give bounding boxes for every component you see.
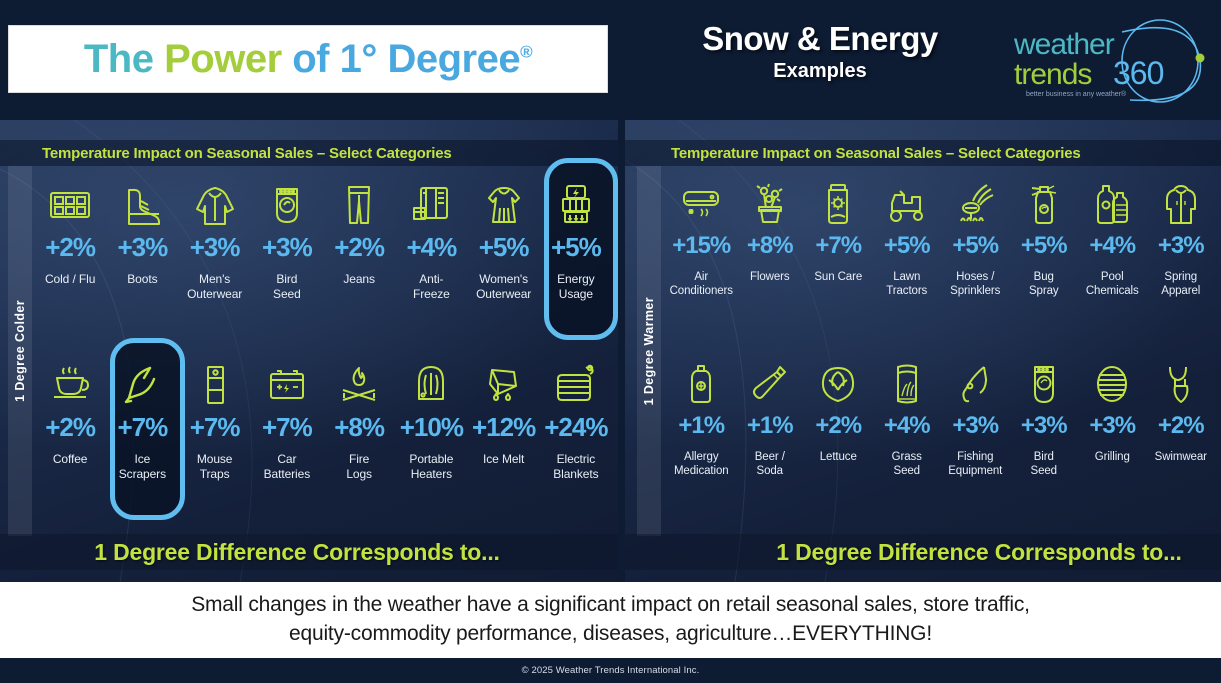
panel-warmer-row-2: +1% AllergyMedication +1% Beer /So bbox=[667, 348, 1215, 528]
pct-value: +2% bbox=[1158, 414, 1204, 438]
sunscreen-tube-icon bbox=[822, 178, 854, 232]
coffee-cup-icon bbox=[48, 358, 92, 412]
cell-energy-usage[interactable]: +5% EnergyUsage bbox=[540, 168, 612, 348]
cell-cold-flu[interactable]: +2% Cold / Flu bbox=[34, 168, 106, 348]
seed-tray-icon bbox=[47, 178, 93, 232]
header-titles: Snow & Energy Examples bbox=[660, 20, 980, 83]
pct-value: +12% bbox=[472, 414, 535, 440]
page-title: The Power of 1° Degree® bbox=[84, 37, 532, 82]
cell-bird-seed-warm[interactable]: +3% BirdSeed bbox=[1010, 348, 1079, 528]
raincoat-icon bbox=[1162, 178, 1200, 232]
cell-ice-scrapers[interactable]: +7% IceScrapers bbox=[106, 348, 178, 528]
panel-colder: Temperature Impact on Seasonal Sales – S… bbox=[0, 120, 618, 582]
cell-label: FishingEquipment bbox=[948, 450, 1002, 479]
pct-value: +3% bbox=[190, 234, 240, 260]
pct-value: +2% bbox=[45, 234, 95, 260]
portable-heater-icon bbox=[412, 358, 450, 412]
cell-anti-freeze[interactable]: +4% Anti-Freeze bbox=[395, 168, 467, 348]
fishing-rod-icon bbox=[954, 358, 996, 412]
copyright-text: © 2025 Weather Trends International Inc. bbox=[522, 665, 700, 676]
corr-banner-warmer-text: 1 Degree Difference Corresponds to... bbox=[776, 539, 1181, 566]
panel-colder-grid: +2% Cold / Flu +3% Boots bbox=[34, 168, 612, 528]
pct-value: +15% bbox=[672, 234, 730, 258]
pct-value: +4% bbox=[884, 414, 930, 438]
cell-label: GrassSeed bbox=[892, 450, 922, 479]
cell-bug-spray[interactable]: +5% BugSpray bbox=[1010, 168, 1079, 348]
svg-text:weather: weather bbox=[1013, 28, 1115, 61]
cell-label: Ice Melt bbox=[483, 452, 524, 467]
pct-value: +3% bbox=[1021, 414, 1067, 438]
cell-flowers[interactable]: +8% Flowers bbox=[736, 168, 805, 348]
corr-banner-colder-text: 1 Degree Difference Corresponds to... bbox=[94, 539, 499, 566]
title-part-power: Power bbox=[164, 37, 292, 81]
fire-logs-icon bbox=[337, 358, 381, 412]
pool-chemicals-icon bbox=[1091, 178, 1133, 232]
cell-label: Flowers bbox=[750, 270, 790, 284]
cell-jeans[interactable]: +2% Jeans bbox=[323, 168, 395, 348]
side-label-warmer: 1 Degree Warmer bbox=[637, 166, 661, 536]
cell-bird-seed[interactable]: +3% BirdSeed bbox=[251, 168, 323, 348]
panel-colder-title-text: Temperature Impact on Seasonal Sales – S… bbox=[0, 145, 452, 162]
cell-label: EnergyUsage bbox=[557, 272, 594, 302]
cell-sun-care[interactable]: +7% Sun Care bbox=[804, 168, 873, 348]
cell-label: Men'sOuterwear bbox=[187, 272, 242, 302]
cell-electric-blankets[interactable]: +24% ElectricBlankets bbox=[540, 348, 612, 528]
corr-banner-warmer: 1 Degree Difference Corresponds to... bbox=[625, 534, 1221, 570]
svg-text:better business in any weather: better business in any weather® bbox=[1026, 90, 1127, 98]
pct-value: +8% bbox=[334, 414, 384, 440]
corr-banner-colder: 1 Degree Difference Corresponds to... bbox=[0, 534, 618, 570]
pct-value: +5% bbox=[952, 234, 998, 258]
weather-trends-360-logo: weather trends 360 better business in an… bbox=[1010, 14, 1210, 108]
panels-container: Temperature Impact on Seasonal Sales – S… bbox=[0, 120, 1221, 582]
panel-colder-title: Temperature Impact on Seasonal Sales – S… bbox=[0, 140, 618, 166]
pct-value: +7% bbox=[190, 414, 240, 440]
svg-text:360: 360 bbox=[1113, 55, 1164, 91]
cell-label: Sun Care bbox=[814, 270, 862, 284]
cell-label: BirdSeed bbox=[1031, 450, 1057, 479]
cell-label: Anti-Freeze bbox=[413, 272, 450, 302]
panel-warmer-title-text: Temperature Impact on Seasonal Sales – S… bbox=[625, 145, 1081, 162]
pct-value: +3% bbox=[952, 414, 998, 438]
cell-car-batteries[interactable]: +7% CarBatteries bbox=[251, 348, 323, 528]
cell-mens-outerwear[interactable]: +3% Men'sOuterwear bbox=[179, 168, 251, 348]
cell-womens-outerwear[interactable]: +5% Women'sOuterwear bbox=[468, 168, 540, 348]
cell-label: PortableHeaters bbox=[409, 452, 453, 482]
ice-melt-icon bbox=[482, 358, 526, 412]
panel-divider bbox=[618, 120, 625, 582]
cell-label: BirdSeed bbox=[273, 272, 301, 302]
car-battery-icon bbox=[265, 358, 309, 412]
title-plate: The Power of 1° Degree® bbox=[8, 25, 608, 93]
pct-value: +5% bbox=[884, 234, 930, 258]
bird-seed-bag-icon bbox=[267, 178, 307, 232]
pct-value: +3% bbox=[1089, 414, 1135, 438]
cell-spring-apparel[interactable]: +3% SpringApparel bbox=[1147, 168, 1216, 348]
pct-value: +5% bbox=[1021, 234, 1067, 258]
cell-pool-chemicals[interactable]: +4% PoolChemicals bbox=[1078, 168, 1147, 348]
cell-label: Beer /Soda bbox=[755, 450, 785, 479]
footer-bar: © 2025 Weather Trends International Inc. bbox=[0, 658, 1221, 683]
hoodie-icon bbox=[192, 178, 238, 232]
cell-lettuce[interactable]: +2% Lettuce bbox=[804, 348, 873, 528]
cell-label: Jeans bbox=[343, 272, 375, 287]
panel-colder-row-2: +2% Coffee +7% IceScrapers bbox=[34, 348, 612, 528]
caption-bar: Small changes in the weather have a sign… bbox=[0, 582, 1221, 658]
pct-value: +7% bbox=[815, 234, 861, 258]
lettuce-icon bbox=[817, 358, 859, 412]
cell-label: CarBatteries bbox=[264, 452, 310, 482]
sprinkler-icon bbox=[953, 178, 997, 232]
air-conditioner-icon bbox=[679, 178, 723, 232]
cell-label: PoolChemicals bbox=[1086, 270, 1139, 299]
panel-warmer-grid: +15% AirConditioners bbox=[667, 168, 1215, 528]
jeans-icon bbox=[342, 178, 376, 232]
panel-warmer: Temperature Impact on Seasonal Sales – S… bbox=[625, 120, 1221, 582]
antifreeze-icon bbox=[409, 178, 453, 232]
header-main-title: Snow & Energy bbox=[660, 20, 980, 58]
ice-scraper-icon bbox=[120, 358, 164, 412]
pct-value: +3% bbox=[262, 234, 312, 260]
cell-beer-soda[interactable]: +1% Beer /Soda bbox=[736, 348, 805, 528]
cell-portable-heaters[interactable]: +10% PortableHeaters bbox=[395, 348, 467, 528]
cell-hoses-sprinklers[interactable]: +5% Hoses /Sprinklers bbox=[941, 168, 1010, 348]
spray-bottle-icon bbox=[1024, 178, 1064, 232]
cell-label: Boots bbox=[127, 272, 157, 287]
cell-label: Women'sOuterwear bbox=[476, 272, 531, 302]
cell-mouse-traps[interactable]: +7% MouseTraps bbox=[179, 348, 251, 528]
cell-label: SpringApparel bbox=[1161, 270, 1200, 299]
panel-warmer-row-1: +15% AirConditioners bbox=[667, 168, 1215, 348]
slide-root: The Power of 1° Degree® Snow & Energy Ex… bbox=[0, 0, 1221, 683]
pct-value: +1% bbox=[678, 414, 724, 438]
swimsuit-icon bbox=[1163, 358, 1199, 412]
panel-colder-row-1: +2% Cold / Flu +3% Boots bbox=[34, 168, 612, 348]
pct-value: +5% bbox=[551, 234, 601, 260]
cell-label: ElectricBlankets bbox=[553, 452, 598, 482]
side-label-warmer-text: 1 Degree Warmer bbox=[642, 297, 656, 405]
logo-svg: weather trends 360 better business in an… bbox=[1010, 14, 1210, 108]
cell-label: IceScrapers bbox=[119, 452, 166, 482]
cell-label: AirConditioners bbox=[670, 270, 733, 299]
cell-fishing-equipment[interactable]: +3% FishingEquipment bbox=[941, 348, 1010, 528]
cell-allergy-medication[interactable]: +1% AllergyMedication bbox=[667, 348, 736, 528]
cell-label: LawnTractors bbox=[886, 270, 927, 299]
pct-value: +1% bbox=[747, 414, 793, 438]
pct-value: +7% bbox=[262, 414, 312, 440]
registered-mark: ® bbox=[520, 42, 532, 61]
lawn-tractor-icon bbox=[885, 178, 929, 232]
pct-value: +24% bbox=[544, 414, 607, 440]
medicine-bottle-icon bbox=[686, 358, 716, 412]
electric-blanket-icon bbox=[554, 358, 598, 412]
caption-text: Small changes in the weather have a sign… bbox=[161, 591, 1061, 649]
cell-label: Hoses /Sprinklers bbox=[950, 270, 1000, 299]
cell-label: Coffee bbox=[53, 452, 88, 467]
pct-value: +2% bbox=[815, 414, 861, 438]
pct-value: +3% bbox=[117, 234, 167, 260]
grill-icon bbox=[1091, 358, 1133, 412]
slide-header: The Power of 1° Degree® Snow & Energy Ex… bbox=[0, 0, 1221, 120]
cell-boots[interactable]: +3% Boots bbox=[106, 168, 178, 348]
side-label-colder: 1 Degree Colder bbox=[8, 166, 32, 536]
cell-ice-melt[interactable]: +12% Ice Melt bbox=[468, 348, 540, 528]
title-part-the: The bbox=[84, 37, 164, 81]
pct-value: +2% bbox=[334, 234, 384, 260]
cell-label: Grilling bbox=[1095, 450, 1130, 464]
cell-swimwear[interactable]: +2% Swimwear bbox=[1147, 348, 1216, 528]
cell-grass-seed[interactable]: +4% GrassSeed bbox=[873, 348, 942, 528]
dress-icon bbox=[482, 178, 526, 232]
header-sub-title: Examples bbox=[660, 60, 980, 83]
cell-air-conditioners[interactable]: +15% AirConditioners bbox=[667, 168, 736, 348]
grass-seed-bag-icon bbox=[890, 358, 924, 412]
energy-meter-icon bbox=[557, 178, 595, 232]
pct-value: +8% bbox=[747, 234, 793, 258]
bird-seed-bag-icon bbox=[1026, 358, 1062, 412]
title-part-degree: of 1° Degree bbox=[292, 37, 520, 81]
beer-bottle-icon bbox=[750, 358, 790, 412]
cell-fire-logs[interactable]: +8% FireLogs bbox=[323, 348, 395, 528]
flower-pot-icon bbox=[750, 178, 790, 232]
pct-value: +4% bbox=[406, 234, 456, 260]
cell-label: BugSpray bbox=[1029, 270, 1059, 299]
cell-lawn-tractors[interactable]: +5% LawnTractors bbox=[873, 168, 942, 348]
cell-grilling[interactable]: +3% Grilling bbox=[1078, 348, 1147, 528]
cell-label: MouseTraps bbox=[197, 452, 233, 482]
boot-icon bbox=[119, 178, 165, 232]
pct-value: +2% bbox=[45, 414, 95, 440]
cell-label: Cold / Flu bbox=[45, 272, 95, 287]
cell-label: FireLogs bbox=[346, 452, 372, 482]
cell-label: Lettuce bbox=[820, 450, 857, 464]
pct-value: +5% bbox=[479, 234, 529, 260]
panel-warmer-title: Temperature Impact on Seasonal Sales – S… bbox=[625, 140, 1221, 166]
mouse-trap-icon bbox=[200, 358, 230, 412]
side-label-colder-text: 1 Degree Colder bbox=[13, 300, 27, 402]
cell-label: Swimwear bbox=[1155, 450, 1207, 464]
cell-label: AllergyMedication bbox=[674, 450, 729, 479]
pct-value: +7% bbox=[117, 414, 167, 440]
pct-value: +3% bbox=[1158, 234, 1204, 258]
svg-text:trends: trends bbox=[1014, 58, 1091, 91]
cell-coffee[interactable]: +2% Coffee bbox=[34, 348, 106, 528]
pct-value: +4% bbox=[1089, 234, 1135, 258]
pct-value: +10% bbox=[400, 414, 463, 440]
